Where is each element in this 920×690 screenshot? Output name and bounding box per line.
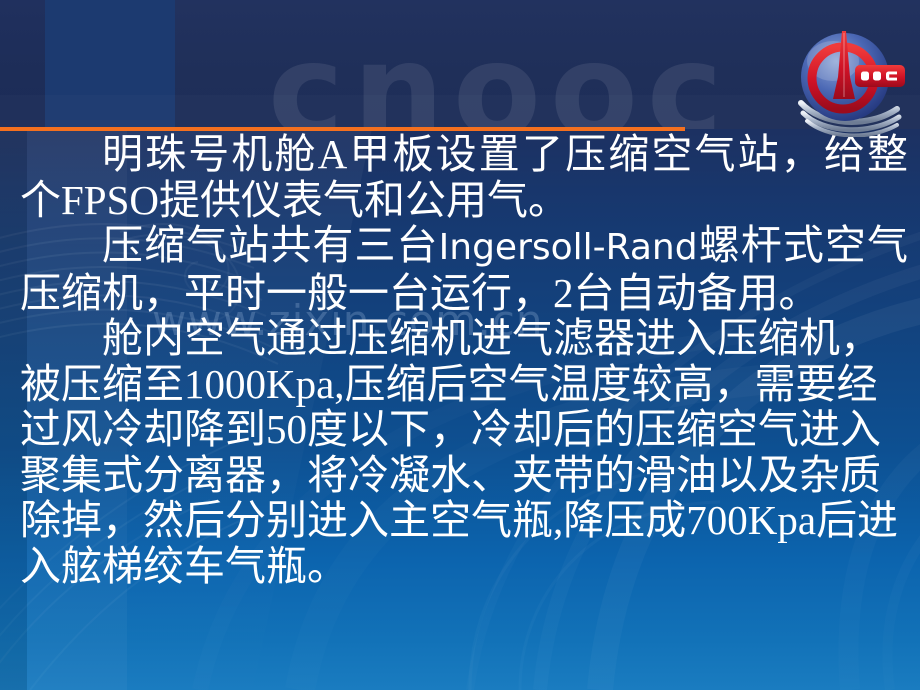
cnooc-ghost-wordmark: cnooc <box>268 28 732 129</box>
cjk-run: 降压成 <box>563 497 686 543</box>
paragraph-1: 明珠号机舱A甲板设置了压缩空气站，给整个FPSO提供仪表气和公用气。 <box>20 132 908 223</box>
latin-run: 700Kpa <box>686 497 816 543</box>
cjk-run: 提供仪表气和公用气。 <box>159 177 569 223</box>
latin-run: FPSO <box>61 177 159 223</box>
paragraph-3: 舱内空气通过压缩机进气滤器进入压缩机，被压缩至1000Kpa,压缩后空气温度较高… <box>20 316 908 589</box>
cnooc-logo <box>793 25 911 137</box>
latin-run: 1000Kpa, <box>184 361 345 407</box>
paragraph-2: 压缩气站共有三台Ingersoll-Rand螺杆式空气压缩机，平时一般一台运行，… <box>20 223 908 316</box>
latin-run: Ingersoll-Rand <box>439 227 698 268</box>
cjk-run: 台自动备用。 <box>574 270 820 316</box>
slide-header: cnooc <box>0 0 920 129</box>
header-divider-rule <box>0 127 685 131</box>
slide-body-text: 明珠号机舱A甲板设置了压缩空气站，给整个FPSO提供仪表气和公用气。 压缩气站共… <box>20 132 908 589</box>
latin-run: 50 <box>266 406 307 452</box>
latin-run: 2 <box>553 270 574 316</box>
latin-run: , <box>553 497 563 543</box>
presentation-slide: cnooc <box>0 0 920 690</box>
cjk-run: 压缩气站共有三台 <box>102 222 439 268</box>
latin-run: A <box>318 131 348 177</box>
cjk-run: 明珠号机舱 <box>102 131 318 177</box>
